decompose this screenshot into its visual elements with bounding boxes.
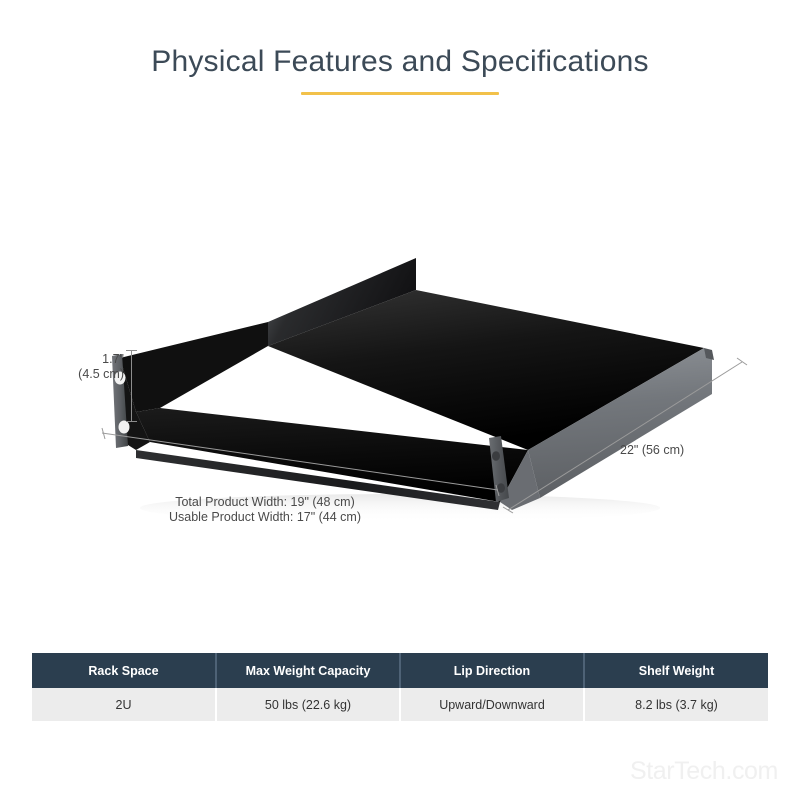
cell-rack-space: 2U xyxy=(32,688,216,721)
specifications-table: Rack Space Max Weight Capacity Lip Direc… xyxy=(32,653,768,721)
column-header-rack-space: Rack Space xyxy=(32,653,216,688)
column-header-shelf-weight: Shelf Weight xyxy=(584,653,768,688)
cell-shelf-weight: 8.2 lbs (3.7 kg) xyxy=(584,688,768,721)
height-imperial: 1.7" xyxy=(32,352,124,367)
page-header: Physical Features and Specifications xyxy=(0,42,800,95)
column-header-lip-direction: Lip Direction xyxy=(400,653,584,688)
height-metric: (4.5 cm) xyxy=(32,367,124,382)
height-tick-top xyxy=(126,350,137,351)
cell-lip-direction: Upward/Downward xyxy=(400,688,584,721)
title-accent-underline xyxy=(301,92,499,95)
total-width-label: Total Product Width: 19" (48 cm) xyxy=(110,495,420,510)
table-row: 2U 50 lbs (22.6 kg) Upward/Downward 8.2 … xyxy=(32,688,768,721)
height-measure-line xyxy=(131,350,132,422)
depth-dimension-label: 22" (56 cm) xyxy=(620,443,684,457)
table-header-row: Rack Space Max Weight Capacity Lip Direc… xyxy=(32,653,768,688)
usable-width-label: Usable Product Width: 17" (44 cm) xyxy=(110,510,420,525)
cell-max-weight-capacity: 50 lbs (22.6 kg) xyxy=(216,688,400,721)
width-dimension-label: Total Product Width: 19" (48 cm) Usable … xyxy=(110,495,420,525)
product-illustration: 1.7" (4.5 cm) Total Product Width: 19" (… xyxy=(0,150,800,620)
startech-watermark: StarTech.com xyxy=(630,757,778,786)
height-tick-bottom xyxy=(126,421,137,422)
column-header-max-weight-capacity: Max Weight Capacity xyxy=(216,653,400,688)
rack-shelf-graphic xyxy=(0,150,800,620)
height-dimension-label: 1.7" (4.5 cm) xyxy=(32,352,124,382)
page-title: Physical Features and Specifications xyxy=(0,42,800,82)
